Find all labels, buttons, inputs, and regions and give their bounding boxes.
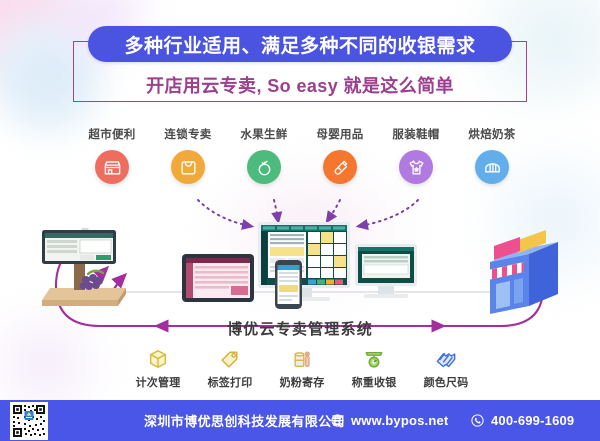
industry-label: 母婴用品	[304, 126, 376, 142]
industry-label: 连锁专卖	[152, 126, 224, 142]
system-name: 博优云专卖管理系统	[0, 318, 600, 339]
milk-can-icon	[264, 347, 340, 371]
website-text: www.bypos.net	[351, 413, 448, 428]
bread-icon	[475, 150, 509, 184]
feature-label: 颜色尺码	[408, 374, 484, 390]
phone-text: 400-699-1609	[491, 413, 574, 428]
feature-label: 标签打印	[192, 374, 268, 390]
industry-item-fresh-fruit[interactable]: 水果生鲜	[228, 126, 300, 184]
footer-bar: 深圳市博优思创科技发展有限公司 www.bypos.net 400-699-16…	[0, 400, 600, 441]
tshirt-icon	[399, 150, 433, 184]
device-cluster	[0, 210, 600, 320]
company-name: 深圳市博优思创科技发展有限公司	[144, 411, 345, 430]
tomato-icon	[247, 150, 281, 184]
feature-label: 计次管理	[120, 374, 196, 390]
system-name-text: 博优云专卖管理系统	[227, 321, 373, 338]
promo-poster: 多种行业适用、满足多种不同的收银需求 开店用云专卖, So easy 就是这么简…	[0, 0, 600, 441]
secondary-monitor	[355, 244, 417, 298]
industry-label: 烘焙奶茶	[456, 126, 528, 142]
industry-item-supermarket[interactable]: 超市便利	[76, 126, 148, 184]
feature-list: 计次管理 标签打印 奶粉寄存	[120, 347, 480, 389]
fabric-swatch-icon	[408, 347, 484, 371]
industry-item-bakery-tea[interactable]: 烘焙奶茶	[456, 126, 528, 184]
industry-label: 水果生鲜	[228, 126, 300, 142]
feature-item-label-print[interactable]: 标签打印	[192, 347, 268, 390]
industry-label: 服装鞋帽	[380, 126, 452, 142]
subheadline-text: 开店用云专卖, So easy 就是这么简单	[146, 76, 454, 96]
tablet-device	[182, 254, 254, 302]
feature-label: 称重收银	[336, 374, 412, 390]
qr-code-graphic	[11, 403, 47, 439]
industry-list: 超市便利 连锁专卖 水果生鲜	[76, 126, 524, 204]
feature-item-formula-storage[interactable]: 奶粉寄存	[264, 347, 340, 390]
feature-label: 奶粉寄存	[264, 374, 340, 390]
smartphone-device	[275, 260, 302, 309]
feature-item-color-size[interactable]: 颜色尺码	[408, 347, 484, 390]
pos-monitor	[258, 222, 350, 301]
industry-label: 超市便利	[76, 126, 148, 142]
baby-bottle-icon	[323, 150, 357, 184]
phone-info[interactable]: 400-699-1609	[470, 413, 574, 428]
box-icon	[120, 347, 196, 371]
subheadline: 开店用云专卖, So easy 就是这么简单	[0, 72, 600, 98]
industry-item-apparel[interactable]: 服装鞋帽	[380, 126, 452, 184]
website-info[interactable]: www.bypos.net	[330, 413, 448, 428]
qr-code-icon[interactable]	[10, 402, 48, 440]
industry-item-chain-store[interactable]: 连锁专卖	[152, 126, 224, 184]
feature-item-visit-count[interactable]: 计次管理	[120, 347, 196, 390]
globe-icon	[330, 413, 345, 428]
storefront-illustration	[488, 210, 558, 314]
kitchen-scale-icon	[336, 347, 412, 371]
weighing-pos-terminal	[42, 230, 126, 306]
phone-icon	[470, 413, 485, 428]
price-tag-icon	[192, 347, 268, 371]
headline-text: 多种行业适用、满足多种不同的收银需求	[124, 31, 475, 58]
shopping-bag-icon	[171, 150, 205, 184]
storefront-icon	[95, 150, 129, 184]
industry-item-baby-products[interactable]: 母婴用品	[304, 126, 376, 184]
headline-banner: 多种行业适用、满足多种不同的收银需求	[88, 26, 512, 62]
feature-item-weighing-checkout[interactable]: 称重收银	[336, 347, 412, 390]
